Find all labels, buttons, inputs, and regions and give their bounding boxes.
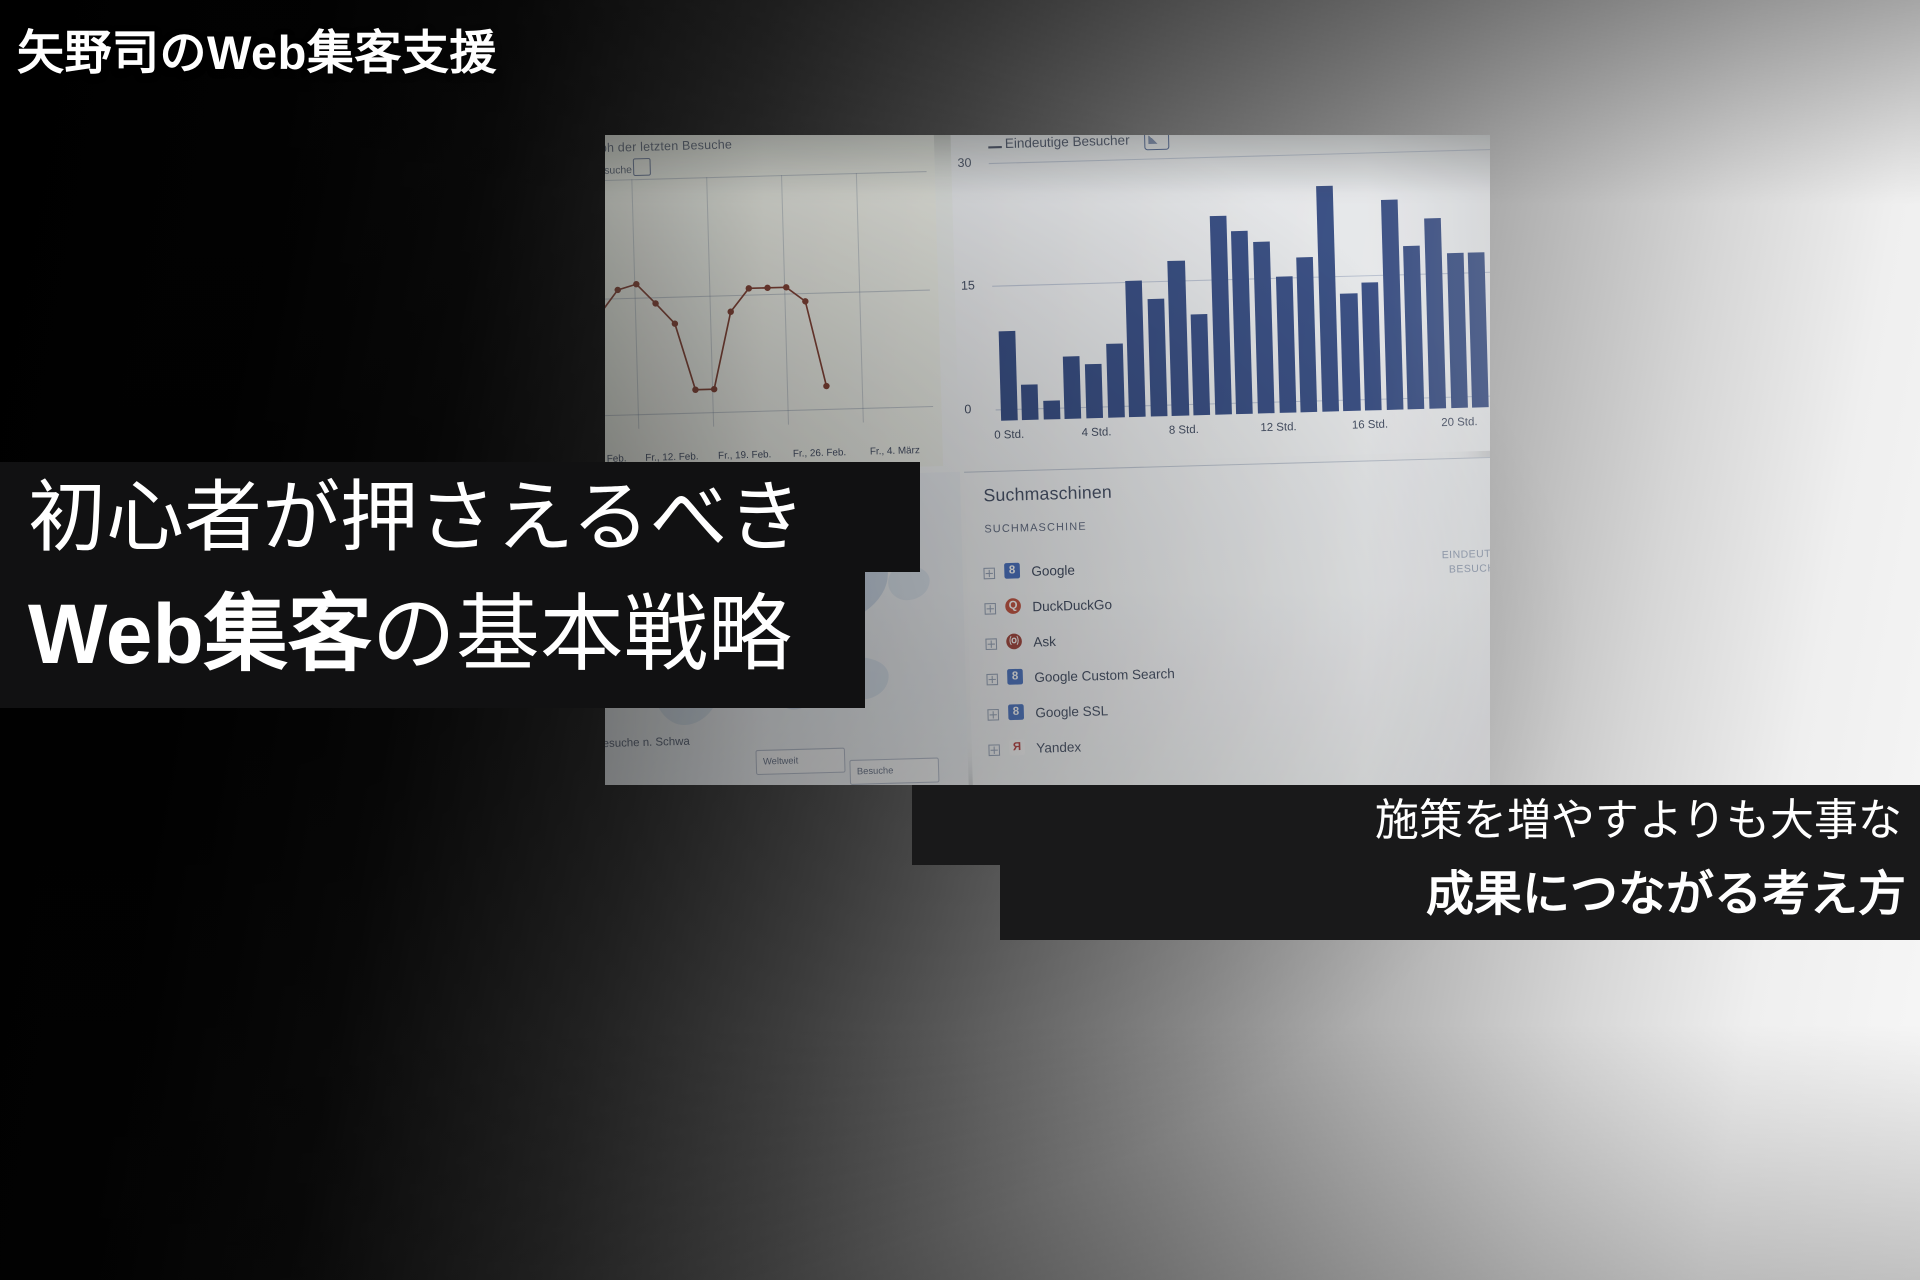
region-select-value: Weltweit [763,755,798,766]
bar [1209,215,1231,414]
search-engines-panel: Suchmaschinen SUCHMASCHINE 8 Google Q Du… [964,456,1490,785]
bar [1231,231,1253,414]
bar [1424,218,1446,409]
expand-plus-icon[interactable] [983,568,995,580]
expand-plus-icon[interactable] [985,638,997,650]
unique-visitors-header-line2: BESUCHER [1449,563,1490,576]
map-panel-title: Besuche n. Schwa [605,735,690,750]
bar [1106,344,1125,418]
search-engine-name: Yandex [1036,739,1081,756]
duckduckgo-favicon: Q [1005,598,1021,614]
yandex-favicon: Я [1009,739,1025,755]
search-engine-name: Google [1031,562,1075,579]
bar-chart-ytick-15: 15 [961,278,975,293]
brand-header: 矢野司のWeb集客支援 [17,14,497,83]
bar [998,330,1017,420]
bar [1468,252,1489,408]
bar [1381,200,1404,410]
page-title-line-2-rest: の基本戦略 [372,587,792,681]
list-item[interactable]: Q DuckDuckGo [984,598,985,621]
line-chart-panel: Graph der letzten Besuche Besuche [605,135,943,476]
bar-chart-ytick-0: 0 [964,402,971,417]
metric-select[interactable]: Besuche [849,757,939,784]
page-title-line-1: 初心者が押さえるべき [28,478,806,556]
search-engine-name: DuckDuckGo [1032,597,1112,615]
google-favicon: 8 [1004,563,1020,579]
region-select[interactable]: Weltweit [755,748,845,775]
search-engines-column-header: SUCHMASCHINE [984,520,1087,535]
expand-plus-icon[interactable] [984,603,996,615]
subtitle-line-2: 成果につながる考え方 [1426,866,1906,924]
bar [1296,257,1317,413]
list-item[interactable]: ⒪ Ask [985,633,986,656]
search-engine-name: Google SSL [1035,703,1108,721]
bar [1447,252,1468,408]
bar-chart-xtick-0: 0 Std. [994,428,1024,441]
bar-chart-panel: Eindeutige Besucher 30 15 0 [950,135,1490,466]
title-band-secondary: Web集客の基本戦略 [0,560,865,708]
google-favicon: 8 [1008,704,1024,720]
ask-favicon: ⒪ [1006,633,1022,649]
metric-select-value: Besuche [857,765,894,776]
line-chart-xtick-4: Fr., 4. März [870,445,920,458]
bar [1168,260,1189,416]
list-item[interactable]: Я Yandex [988,739,989,762]
line-chart-xtick-2: Fr., 19. Feb. [718,449,772,462]
search-engine-name: Google Custom Search [1034,666,1175,686]
bar [1191,314,1211,415]
bar-chart-ytick-30: 30 [957,155,971,170]
bar [1147,299,1167,417]
bar-chart-xtick-8: 8 Std. [1169,424,1199,437]
expand-plus-icon[interactable] [987,709,999,721]
bar [1403,245,1424,409]
expand-plus-icon[interactable] [986,674,998,686]
bar [1340,294,1360,412]
page-title-line-2-bold: Web集客 [28,587,372,681]
line-chart-plot [605,135,943,476]
bar-chart-bars [990,135,1490,421]
bar [1063,356,1081,419]
title-band-primary: 初心者が押さえるべき [0,462,920,572]
list-item[interactable]: 8 Google SSL [987,704,988,727]
bar-chart-xtick-4: 4 Std. [1081,426,1111,439]
bar [1276,276,1297,413]
bar [1021,384,1039,420]
google-favicon: 8 [1007,669,1023,685]
expand-plus-icon[interactable] [988,744,1000,756]
page-title-line-2: Web集客の基本戦略 [28,592,792,676]
bar [1316,185,1339,412]
unique-visitors-header-line1: EINDEUTIGE [1442,548,1490,561]
search-engine-name: Ask [1033,634,1056,650]
line-chart-xtick-3: Fr., 26. Feb. [793,447,847,460]
subtitle-band-bottom: 成果につながる考え方 [1000,858,1920,940]
bar [1362,282,1382,410]
bar [1125,280,1146,417]
search-engines-heading: Suchmaschinen [983,482,1112,506]
subtitle-band-top: 施策を増やすよりも大事な [912,785,1920,865]
subtitle-line-1: 施策を増やすよりも大事な [1375,795,1902,848]
bar-chart-xtick-20: 20 Std. [1441,416,1478,429]
bar [1043,400,1060,420]
bar-chart-xtick-12: 12 Std. [1260,421,1297,434]
list-item[interactable]: 8 Google [983,563,984,586]
bar [1085,363,1103,418]
bar [1253,241,1275,413]
bar-chart-xtick-16: 16 Std. [1352,418,1389,431]
poster-canvas: Graph der letzten Besuche Besuche [0,0,1920,1280]
list-item[interactable]: 8 Google Custom Search [986,669,987,692]
